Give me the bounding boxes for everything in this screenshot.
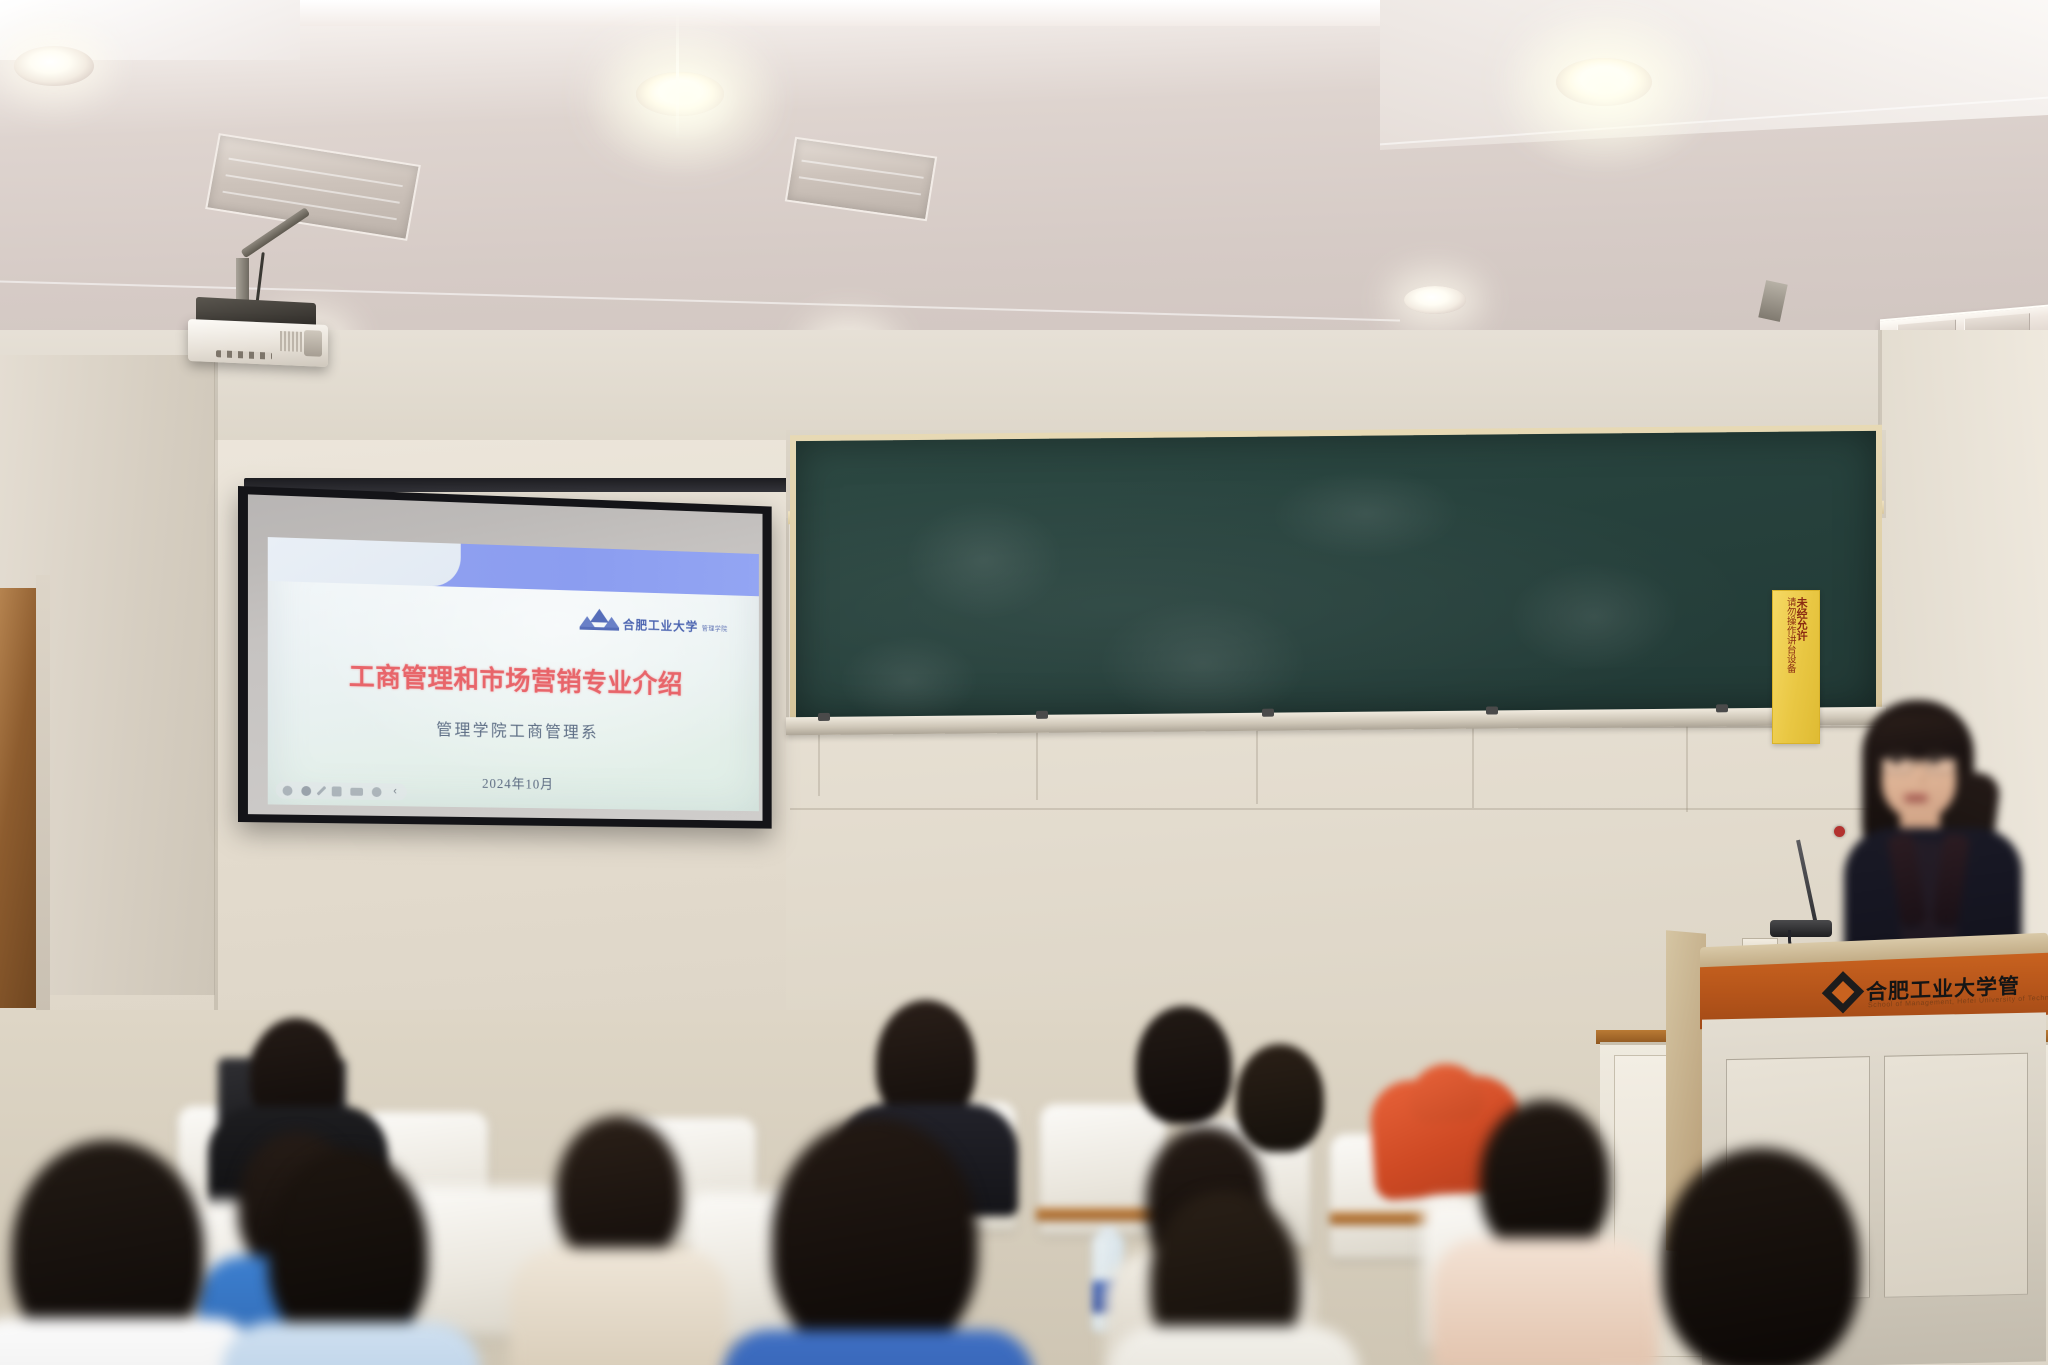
tile-seam xyxy=(818,726,820,796)
more-icon[interactable] xyxy=(372,787,382,797)
projector-vent xyxy=(280,331,302,352)
blackboard xyxy=(790,425,1882,725)
audience-head xyxy=(772,1118,978,1358)
tile-seam xyxy=(1256,726,1258,804)
light-glare xyxy=(676,10,679,140)
audience-shoulders xyxy=(1108,1326,1360,1365)
audience-shoulders xyxy=(1432,1238,1658,1365)
audience-head xyxy=(1480,1100,1610,1256)
slide-title: 工商管理和市场营销专业介绍 xyxy=(268,653,759,703)
audience-shoulders xyxy=(0,1318,260,1365)
audience-shoulders xyxy=(222,1322,480,1365)
projected-slide: 合肥工业大学 管理学院 工商管理和市场营销专业介绍 管理学院工商管理系 2024… xyxy=(268,537,759,811)
audience-shoulders xyxy=(722,1330,1034,1365)
slide-subtitle: 管理学院工商管理系 xyxy=(268,713,759,746)
audience-head xyxy=(268,1150,428,1350)
logo-school-name: 管理学院 xyxy=(702,626,728,634)
tile-seam xyxy=(1472,726,1474,808)
warning-sign: 未经允许 请勿操作讲台设备 xyxy=(1772,590,1820,744)
presenter-nose xyxy=(1914,774,1924,786)
door-frame xyxy=(36,575,50,1015)
presenter-mouth xyxy=(1904,794,1928,802)
record-icon[interactable] xyxy=(301,785,311,795)
projector xyxy=(188,319,328,367)
ceiling-light xyxy=(1404,286,1466,314)
laser-icon[interactable] xyxy=(332,786,342,796)
audience-head xyxy=(1136,1006,1232,1124)
slide-header-band xyxy=(268,537,759,596)
audience-head xyxy=(1236,1044,1324,1152)
prev-slide-icon[interactable]: ‹ xyxy=(390,787,400,797)
university-logo-icon xyxy=(1822,971,1864,1013)
presenter-fringe xyxy=(1874,716,1966,760)
ceiling-right-panel xyxy=(1380,0,2048,150)
microphone-head xyxy=(1834,826,1845,837)
projector-ports xyxy=(216,350,272,359)
projector-lens xyxy=(304,330,322,357)
warning-sign-line1: 未经允许 xyxy=(1796,597,1807,737)
slides-icon[interactable] xyxy=(350,787,363,795)
presentation-toolbar[interactable]: ‹ xyxy=(276,782,407,801)
audience-head xyxy=(1662,1148,1860,1365)
warning-sign-line2: 请勿操作讲台设备 xyxy=(1785,597,1795,737)
ceiling-light xyxy=(1556,58,1652,106)
slide-logo: 合肥工业大学 管理学院 xyxy=(580,608,728,634)
wall-corner-line xyxy=(214,356,218,1016)
projection-screen: 合肥工业大学 管理学院 工商管理和市场营销专业介绍 管理学院工商管理系 2024… xyxy=(238,486,772,829)
lectern-panel xyxy=(1884,1053,2028,1298)
slide-header-notch xyxy=(268,537,461,587)
audience-shoulders xyxy=(510,1248,728,1365)
blackboard-surface xyxy=(796,431,1876,719)
tile-seam xyxy=(1686,726,1688,812)
ceiling-light xyxy=(14,46,94,86)
tile-seam xyxy=(790,808,1886,810)
university-emblem-icon xyxy=(580,608,619,631)
ceiling-light xyxy=(636,72,724,116)
screen-surface: 合肥工业大学 管理学院 工商管理和市场营销专业介绍 管理学院工商管理系 2024… xyxy=(248,494,763,820)
logo-university-name: 合肥工业大学 xyxy=(623,619,698,633)
lecture-hall-photo: 合肥工业大学 管理学院 工商管理和市场营销专业介绍 管理学院工商管理系 2024… xyxy=(0,0,2048,1365)
pen-icon[interactable] xyxy=(317,786,327,796)
audience-head xyxy=(556,1116,682,1266)
presenter-glasses xyxy=(1882,756,1956,771)
tile-seam xyxy=(1036,726,1038,800)
pointer-icon[interactable] xyxy=(283,785,293,795)
